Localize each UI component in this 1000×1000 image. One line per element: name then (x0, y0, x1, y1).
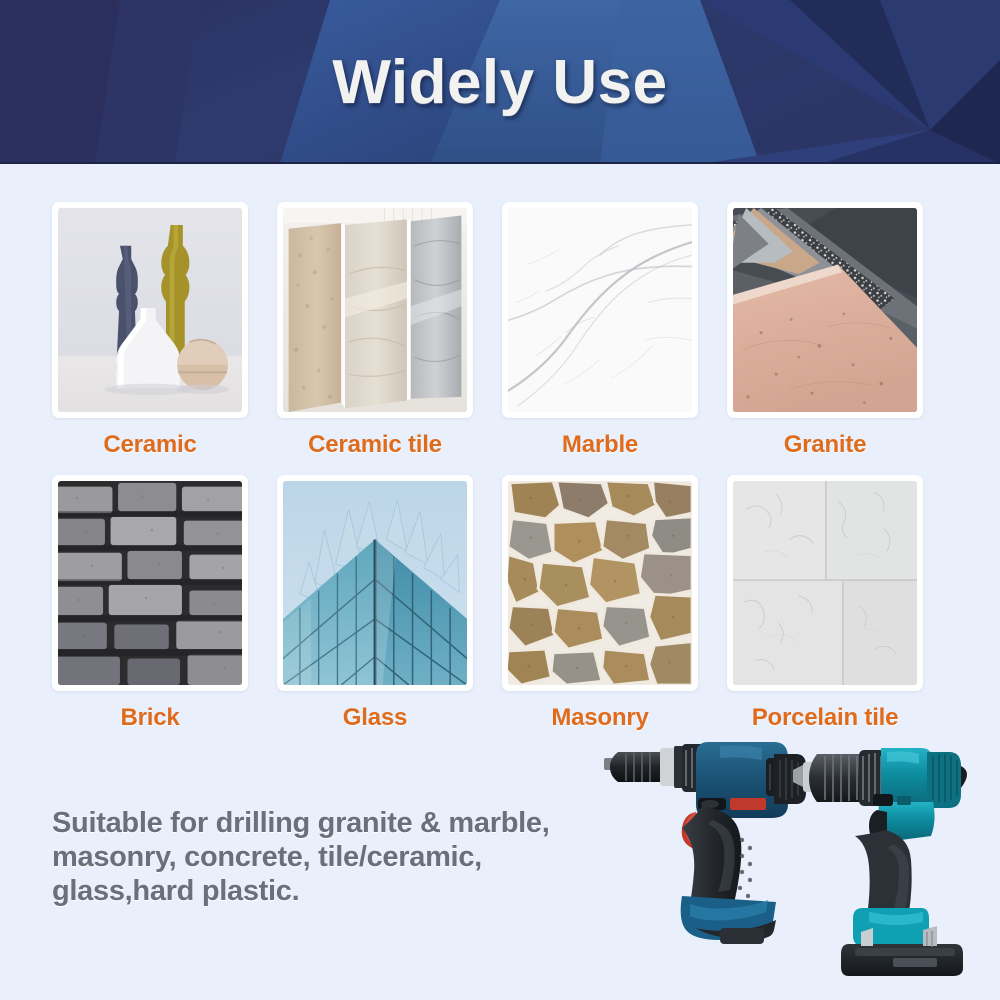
card-photo-frame (502, 475, 698, 691)
glass-building-photo (283, 481, 467, 685)
masonry-stone-wall-photo (508, 481, 692, 685)
material-card[interactable]: Granite (727, 202, 923, 459)
cordless-drill-teal (775, 726, 1000, 976)
material-card-label: Ceramic tile (277, 431, 473, 459)
card-photo-frame (52, 475, 248, 691)
brick-wall-photo (58, 481, 242, 685)
ceramic-vases-photo (58, 208, 242, 412)
material-card-label: Ceramic (52, 431, 248, 459)
card-photo-frame (52, 202, 248, 418)
card-photo-frame (502, 202, 698, 418)
material-card-label: Glass (277, 704, 473, 732)
card-photo-frame (277, 202, 473, 418)
material-card[interactable]: Masonry (502, 475, 698, 732)
material-card-label: Brick (52, 704, 248, 732)
card-photo-frame (277, 475, 473, 691)
drill-images (570, 718, 1000, 1000)
material-card[interactable]: Ceramic (52, 202, 248, 459)
material-card-label: Granite (727, 431, 923, 459)
page-title: Widely Use (0, 0, 1000, 164)
material-card-grid: Ceramic (52, 202, 952, 732)
suitability-description: Suitable for drilling granite & marble, … (52, 806, 612, 909)
ceramic-tile-slabs-photo (283, 208, 467, 412)
material-card-label: Marble (502, 431, 698, 459)
material-card[interactable]: Porcelain tile (727, 475, 923, 732)
card-photo-frame (727, 475, 923, 691)
granite-slabs-photo (733, 208, 917, 412)
material-card-label: Porcelain tile (727, 704, 923, 732)
description-line-3: glass,hard plastic. (52, 874, 612, 908)
footer-section: Suitable for drilling granite & marble, … (0, 718, 1000, 1000)
marble-slab-photo (508, 208, 692, 412)
porcelain-tile-photo (733, 481, 917, 685)
material-card[interactable]: Marble (502, 202, 698, 459)
material-card[interactable]: Brick (52, 475, 248, 732)
material-card[interactable]: Glass (277, 475, 473, 732)
description-line-2: masonry, concrete, tile/ceramic, (52, 840, 612, 874)
page-header: Widely Use (0, 0, 1000, 164)
material-card[interactable]: Ceramic tile (277, 202, 473, 459)
material-card-label: Masonry (502, 704, 698, 732)
description-line-1: Suitable for drilling granite & marble, (52, 806, 612, 840)
card-photo-frame (727, 202, 923, 418)
